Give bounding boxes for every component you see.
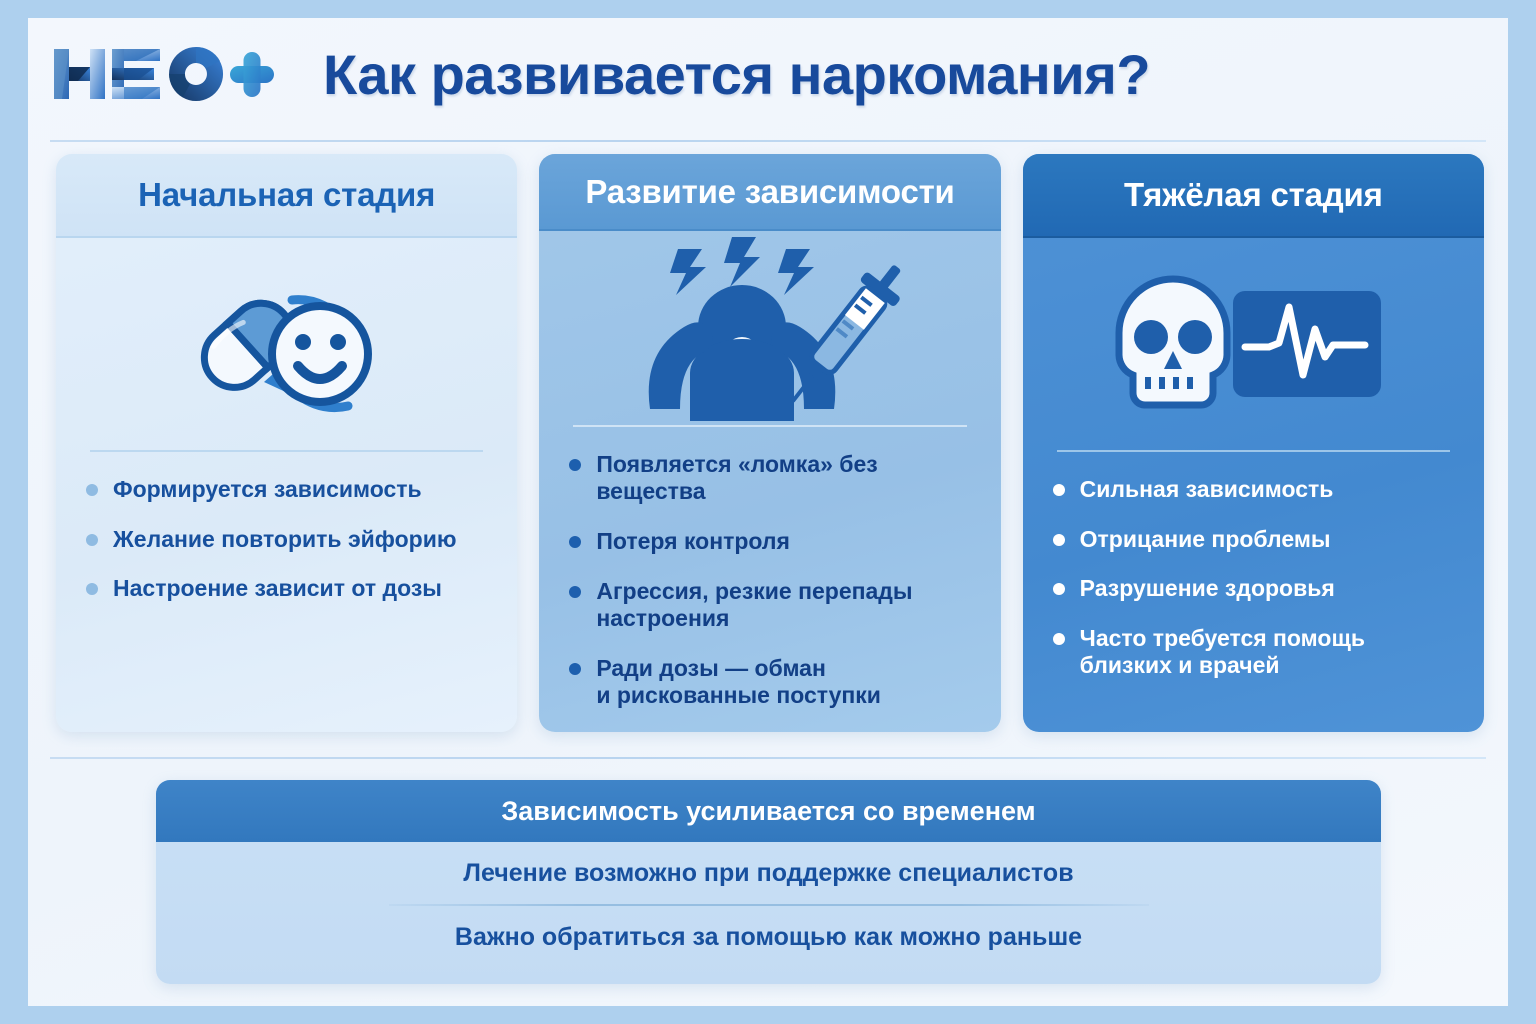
bullet-text: Потеря контроля [596, 528, 790, 556]
bullet-dot-icon [569, 536, 581, 548]
bullet-dot-icon [569, 586, 581, 598]
bullet-text: Ради дозы — обман и рискованные поступки [596, 655, 881, 710]
list-item: Желание повторить эйфорию [86, 526, 491, 554]
bullet-text: Сильная зависимость [1080, 476, 1334, 504]
footer-top-divider [50, 757, 1486, 759]
summary-headline: Зависимость усиливается со временем [156, 780, 1381, 842]
list-item: Часто требуется помощь близких и врачей [1053, 625, 1458, 680]
poster-header: Как развивается наркомания? [28, 18, 1508, 130]
list-item: Ради дозы — обман и рискованные поступки [569, 655, 974, 710]
bullet-dot-icon [86, 484, 98, 496]
list-item: Разрушение здоровья [1053, 575, 1458, 603]
list-item: Формируется зависимость [86, 476, 491, 504]
skull-ecg-icon [1023, 238, 1484, 450]
stage-bullet-list: Сильная зависимость Отрицание проблемы Р… [1023, 476, 1484, 732]
card-content-divider [1057, 450, 1450, 452]
bullet-text: Часто требуется помощь близких и врачей [1080, 625, 1365, 680]
stage-card-title: Тяжёлая стадия [1023, 154, 1484, 236]
bullet-text: Появляется «ломка» без вещества [596, 451, 974, 506]
infographic-poster: Как развивается наркомания? Начальная ст… [28, 18, 1508, 1006]
list-item: Сильная зависимость [1053, 476, 1458, 504]
stage-card-title: Начальная стадия [56, 154, 517, 236]
bullet-dot-icon [1053, 583, 1065, 595]
bullet-text: Отрицание проблемы [1080, 526, 1331, 554]
list-item: Появляется «ломка» без вещества [569, 451, 974, 506]
summary-line-2: Важно обратиться за помощью как можно ра… [156, 906, 1381, 968]
bullet-dot-icon [569, 459, 581, 471]
stage-card-development[interactable]: Развитие зависимости [539, 154, 1000, 732]
stage-card-severe[interactable]: Тяжёлая стадия [1023, 154, 1484, 732]
summary-line-1: Лечение возможно при поддержке специалис… [156, 842, 1381, 904]
bullet-text: Разрушение здоровья [1080, 575, 1335, 603]
bullet-dot-icon [569, 663, 581, 675]
bullet-dot-icon [86, 583, 98, 595]
card-content-divider [90, 450, 483, 452]
list-item: Потеря контроля [569, 528, 974, 556]
bullet-text: Формируется зависимость [113, 476, 422, 504]
bullet-dot-icon [1053, 484, 1065, 496]
stage-bullet-list: Формируется зависимость Желание повторит… [56, 476, 517, 732]
neo-plus-logo [50, 39, 275, 109]
list-item: Отрицание проблемы [1053, 526, 1458, 554]
stage-bullet-list: Появляется «ломка» без вещества Потеря к… [539, 451, 1000, 732]
card-content-divider [573, 425, 966, 427]
bullet-dot-icon [86, 534, 98, 546]
page-title: Как развивается наркомания? [323, 42, 1150, 107]
header-divider [50, 140, 1486, 142]
stage-card-initial[interactable]: Начальная стадия [56, 154, 517, 732]
stage-card-title: Развитие зависимости [539, 154, 1000, 229]
list-item: Агрессия, резкие перепады настроения [569, 578, 974, 633]
pill-smiley-cycle-icon [56, 238, 517, 450]
bullet-text: Настроение зависит от дозы [113, 575, 442, 603]
bullet-text: Агрессия, резкие перепады настроения [596, 578, 974, 633]
bullet-text: Желание повторить эйфорию [113, 526, 457, 554]
list-item: Настроение зависит от дозы [86, 575, 491, 603]
bullet-dot-icon [1053, 633, 1065, 645]
stage-cards: Начальная стадия [56, 154, 1484, 732]
summary-spacer [156, 968, 1381, 984]
summary-panel: Зависимость усиливается со временем Лече… [156, 780, 1381, 984]
stressed-person-syringe-icon [539, 231, 1000, 425]
bullet-dot-icon [1053, 534, 1065, 546]
